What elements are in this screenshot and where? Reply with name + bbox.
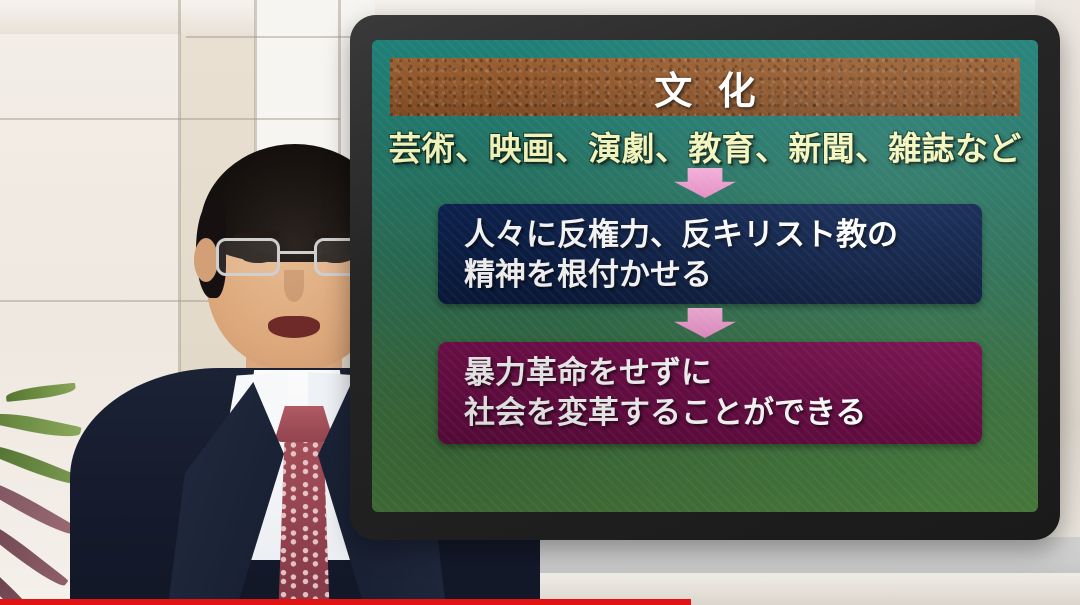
slide-subtitle: 芸術、映画、演劇、教育、新聞、雑誌など	[372, 122, 1038, 170]
video-progress-fill[interactable]	[0, 599, 691, 605]
slide-title: 文 化	[648, 60, 762, 115]
callout-navy: 人々に反権力、反キリスト教の 精神を根付かせる	[438, 204, 982, 304]
presenter-mouth	[268, 316, 320, 338]
callout-navy-line-2: 精神を根付かせる	[464, 256, 982, 296]
down-arrow-icon-2	[674, 308, 736, 338]
callout-purple: 暴力革命をせずに 社会を変革することができる	[438, 342, 982, 444]
down-arrow-icon-1	[674, 168, 736, 198]
presentation-monitor: 文 化 芸術、映画、演劇、教育、新聞、雑誌など 人々に反権力、反キリスト教の 精…	[350, 15, 1060, 540]
callout-purple-line-1: 暴力革命をせずに	[464, 354, 982, 394]
slide: 文 化 芸術、映画、演劇、教育、新聞、雑誌など 人々に反権力、反キリスト教の 精…	[372, 40, 1038, 512]
callout-purple-line-2: 社会を変革することができる	[464, 394, 982, 434]
callout-navy-line-1: 人々に反権力、反キリスト教の	[464, 216, 982, 256]
presenter-ear-left	[194, 238, 218, 282]
video-progress-track[interactable]	[0, 599, 1080, 605]
monitor-screen: 文 化 芸術、映画、演劇、教育、新聞、雑誌など 人々に反権力、反キリスト教の 精…	[372, 40, 1038, 512]
video-frame: 文 化 芸術、映画、演劇、教育、新聞、雑誌など 人々に反権力、反キリスト教の 精…	[0, 0, 1080, 605]
presenter-nose	[284, 270, 304, 302]
presenter-necktie	[278, 416, 330, 605]
slide-title-banner: 文 化	[390, 58, 1020, 116]
